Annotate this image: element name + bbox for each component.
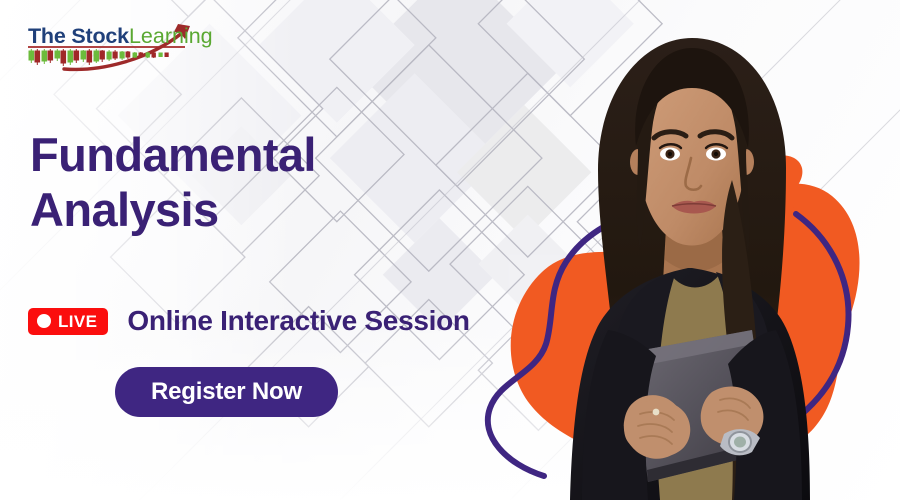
businesswoman-figure — [570, 38, 810, 500]
logo-brand-secondary: Learning — [129, 24, 213, 48]
page-title: Fundamental Analysis — [30, 128, 316, 238]
promo-banner: The StockLearning Fundamental Analysis L… — [0, 0, 900, 500]
site-logo[interactable]: The StockLearning — [22, 20, 222, 78]
live-dot-icon — [37, 314, 51, 328]
ring-icon — [653, 409, 660, 416]
logo-wordmark: The StockLearning — [28, 26, 213, 48]
hero-artwork — [480, 0, 900, 500]
session-row: LIVE Online Interactive Session — [28, 305, 470, 337]
candlestick-chart-icon — [29, 49, 168, 66]
register-now-button[interactable]: Register Now — [115, 367, 338, 417]
session-subtitle: Online Interactive Session — [127, 305, 469, 337]
live-badge-label: LIVE — [58, 313, 97, 330]
logo-brand-primary: The Stock — [28, 24, 129, 48]
status-badge: LIVE — [28, 308, 108, 335]
